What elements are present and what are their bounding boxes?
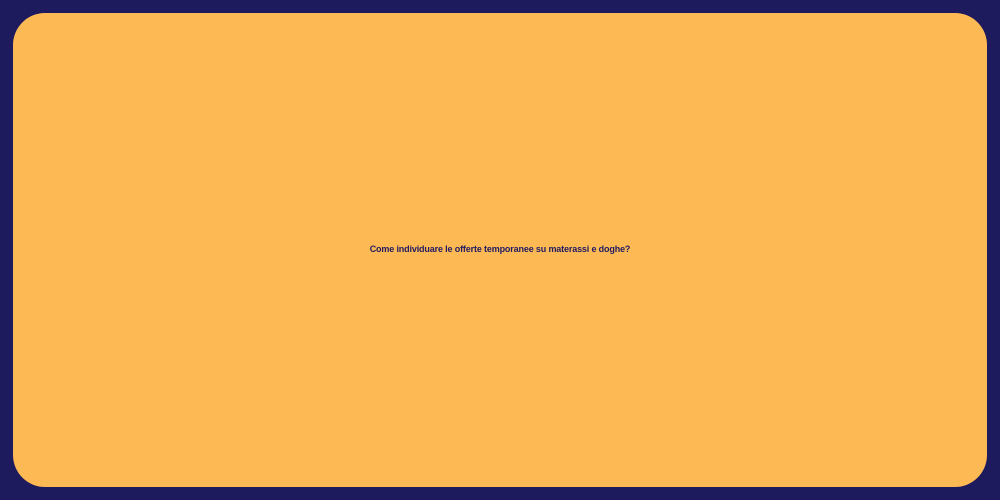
page-title: Come individuare le offerte temporanee s…: [13, 244, 987, 255]
banner-frame: Come individuare le offerte temporanee s…: [0, 0, 1000, 500]
banner-card: Come individuare le offerte temporanee s…: [13, 13, 987, 487]
